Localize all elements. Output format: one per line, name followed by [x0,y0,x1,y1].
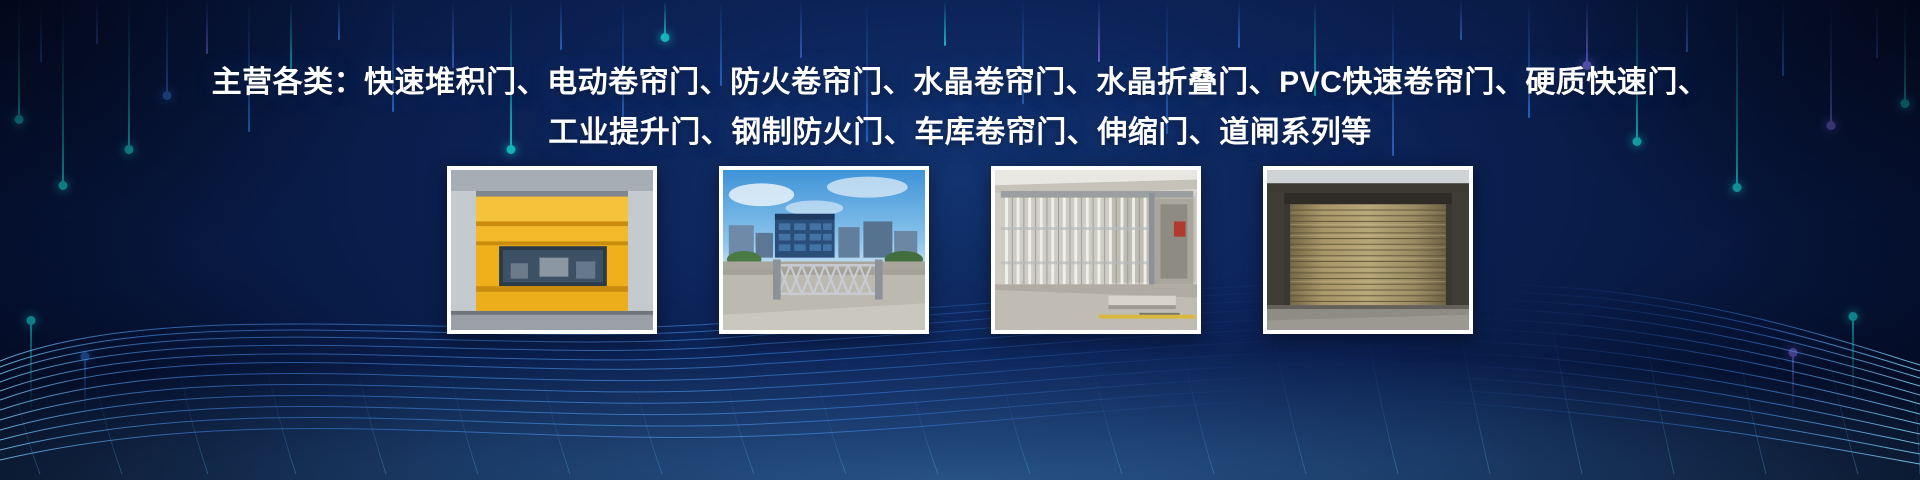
line-27 [1460,0,1462,40]
photo-fast-stacking-door[interactable] [447,166,657,334]
line-35 [1876,0,1878,58]
retractable-gate-image [723,170,925,330]
crystal-folding-door-image [995,170,1197,330]
line-40-dot [1789,348,1798,357]
garage-rolling-shutter-image [1267,170,1469,330]
headline-line-1: 主营各类：快速堆积门、电动卷帘门、防火卷帘门、水晶卷帘门、水晶折叠门、PVC快速… [0,58,1920,108]
photo-retractable-gate[interactable] [719,166,929,334]
line-22 [1098,0,1100,62]
line-38 [84,356,86,416]
line-18 [800,0,802,58]
line-37 [30,320,32,416]
fast-stacking-door-image [451,170,653,330]
line-2 [40,0,42,62]
line-29 [1586,0,1588,66]
line-16 [664,0,666,38]
line-16-dot [661,33,670,42]
line-24 [1238,0,1240,48]
banner-headline: 主营各类：快速堆积门、电动卷帘门、防火卷帘门、水晶卷帘门、水晶折叠门、PVC快速… [0,58,1920,158]
line-38-dot [81,352,90,361]
photo-crystal-folding-door[interactable] [991,166,1201,334]
promo-banner: 主营各类：快速堆积门、电动卷帘门、防火卷帘门、水晶卷帘门、水晶折叠门、PVC快速… [0,0,1920,480]
line-4 [96,0,98,44]
headline-line-2: 工业提升门、钢制防火门、车库卷帘门、伸缩门、道闸系列等 [0,108,1920,158]
line-10 [338,0,340,40]
line-20 [944,0,946,46]
line-31 [1686,0,1688,52]
line-14 [560,0,562,50]
photo-garage-rolling-shutter[interactable] [1263,166,1473,334]
line-7 [206,0,208,54]
product-photo-strip [0,166,1920,334]
line-40 [1792,352,1794,414]
